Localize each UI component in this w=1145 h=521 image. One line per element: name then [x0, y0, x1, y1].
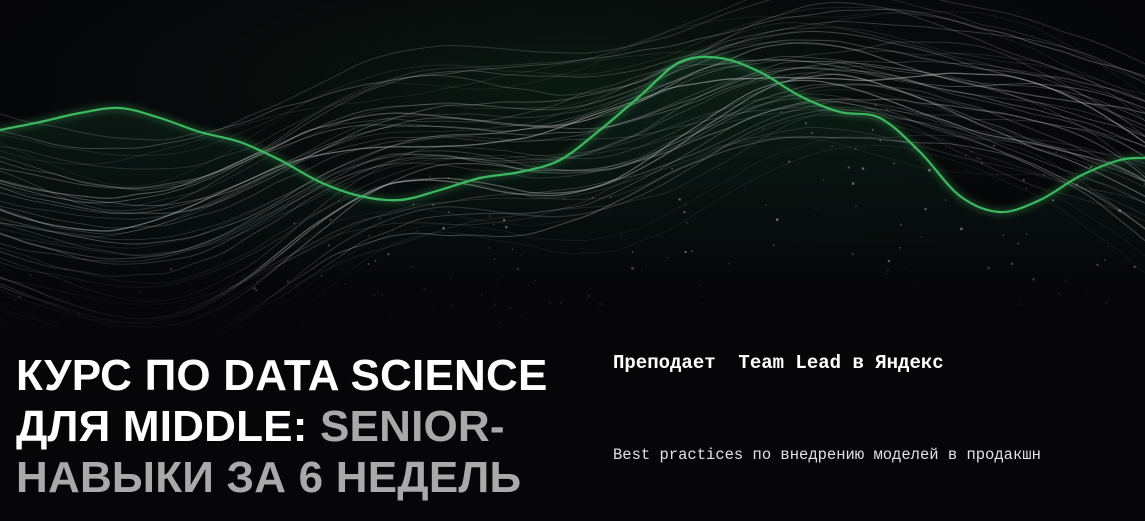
- particle-dot: [960, 228, 962, 230]
- particle-dot: [432, 204, 434, 206]
- particle-dot: [852, 253, 854, 255]
- particle-dot: [560, 302, 562, 304]
- particle-dot: [1051, 278, 1052, 279]
- particle-dot: [503, 219, 505, 221]
- particle-dot: [257, 281, 258, 282]
- particle-dot: [993, 145, 995, 147]
- particle-dot: [823, 179, 824, 180]
- particle-dot: [302, 322, 304, 324]
- particle-dot: [521, 254, 522, 255]
- particle-dot: [685, 251, 687, 253]
- particle-dot: [762, 128, 763, 129]
- particle-dot: [997, 174, 999, 176]
- particle-dot: [765, 205, 766, 206]
- particle-dot: [1056, 151, 1058, 153]
- particle-dot: [297, 285, 298, 286]
- particle-dot: [493, 224, 494, 225]
- particle-dot: [1089, 331, 1091, 333]
- particle-dot: [481, 295, 482, 296]
- particle-dot: [416, 230, 418, 232]
- particle-dot: [424, 289, 426, 291]
- particle-dot: [429, 176, 431, 178]
- particle-dot: [79, 312, 81, 314]
- particle-dot: [789, 161, 791, 163]
- particle-dot: [945, 147, 946, 148]
- particle-dot: [293, 309, 294, 310]
- particle-dot: [377, 334, 378, 335]
- particle-dot: [338, 200, 340, 202]
- particle-dot: [631, 267, 633, 269]
- particle-dot: [872, 129, 874, 131]
- wave-visualization: [0, 0, 1145, 340]
- particle-dot: [549, 302, 551, 304]
- particle-dot: [900, 224, 902, 226]
- headline-line-2-tail: SENIOR-: [320, 402, 505, 451]
- particle-dot: [1087, 295, 1088, 296]
- particle-dot: [1026, 234, 1027, 235]
- particle-dot: [880, 140, 882, 142]
- particle-dot: [199, 309, 201, 311]
- teacher-block: Преподает Team Lead в Яндекс Best practi…: [613, 350, 1133, 521]
- particle-dot: [510, 307, 512, 309]
- teacher-heading: Преподает Team Lead в Яндекс: [613, 350, 1133, 376]
- particle-dot: [243, 277, 244, 278]
- particle-dot: [660, 318, 662, 320]
- particle-dot: [885, 273, 887, 275]
- particle-dot: [1043, 174, 1045, 176]
- particle-dot: [780, 111, 782, 113]
- particle-dot: [887, 269, 889, 271]
- particle-dot: [515, 323, 517, 325]
- hero-banner: КУРС ПО DATA SCIENCE ДЛЯ MIDDLE: SENIOR-…: [0, 0, 1145, 521]
- particle-dot: [679, 198, 681, 200]
- particle-dot: [850, 258, 851, 259]
- particle-dot: [855, 205, 857, 207]
- particle-dot: [563, 198, 565, 200]
- particle-dot: [921, 236, 923, 238]
- particle-dot: [1108, 246, 1109, 247]
- particle-dot: [494, 304, 496, 306]
- particle-dot: [852, 182, 855, 185]
- particle-dot: [413, 204, 415, 206]
- particle-dot: [321, 275, 323, 277]
- particle-dot: [74, 296, 75, 297]
- particle-dot: [965, 169, 967, 171]
- particle-dot: [1033, 278, 1035, 280]
- particle-dot: [532, 319, 534, 321]
- particle-dot: [434, 310, 435, 311]
- particle-dot: [989, 300, 991, 302]
- particle-dot: [499, 321, 501, 323]
- particle-dot: [378, 218, 380, 220]
- headline-line-1: КУРС ПО DATA SCIENCE: [16, 350, 556, 401]
- particle-dot: [1023, 179, 1025, 181]
- particle-dot: [776, 219, 778, 221]
- particle-dot: [855, 148, 857, 150]
- particle-dot: [945, 199, 947, 201]
- particle-dot: [620, 235, 621, 236]
- particle-dot: [1119, 209, 1122, 212]
- particle-dot: [15, 299, 17, 301]
- particle-dot: [1003, 234, 1005, 236]
- wave-svg: [0, 0, 1145, 340]
- particle-dot: [894, 163, 895, 164]
- particle-dot: [987, 267, 989, 269]
- particle-dot: [1076, 184, 1078, 186]
- particle-dot: [646, 265, 647, 266]
- particle-dot: [1134, 266, 1136, 268]
- particle-dot: [924, 208, 926, 210]
- particle-dot: [450, 277, 452, 279]
- particle-dot: [381, 294, 383, 296]
- particle-dot: [411, 266, 412, 267]
- headline-line-2: ДЛЯ MIDDLE: SENIOR-: [16, 401, 556, 452]
- particle-dot: [979, 158, 981, 160]
- particle-dot: [496, 279, 498, 281]
- particle-dot: [719, 168, 720, 169]
- course-description: Best practices по внедрению моделей в пр…: [613, 390, 1133, 521]
- particle-dot: [1104, 259, 1105, 260]
- particle-dot: [494, 259, 495, 260]
- particle-dot: [1106, 302, 1108, 304]
- particle-dot: [661, 236, 662, 237]
- particle-dot: [287, 280, 289, 282]
- particle-dot: [30, 275, 31, 276]
- particle-dot: [488, 247, 490, 249]
- particle-dot: [448, 211, 450, 213]
- particle-dot: [592, 197, 594, 199]
- particle-dot: [503, 322, 505, 324]
- particle-dot: [875, 104, 877, 106]
- particle-dot: [976, 157, 978, 159]
- particle-dot: [667, 257, 668, 258]
- particle-dot: [170, 268, 172, 270]
- particle-dot: [535, 280, 536, 281]
- particle-dot: [910, 270, 911, 271]
- particle-dot: [685, 204, 686, 205]
- particle-dot: [700, 285, 701, 286]
- particle-dot: [1059, 293, 1061, 295]
- particle-dot: [451, 328, 452, 329]
- particle-dot: [1064, 280, 1066, 282]
- particle-dot: [581, 248, 582, 249]
- particle-dot: [253, 287, 255, 289]
- particle-dot: [691, 251, 692, 252]
- particle-dot: [928, 169, 931, 172]
- particle-dot: [448, 177, 449, 178]
- particle-dot: [900, 247, 901, 248]
- particle-dot: [375, 260, 376, 261]
- particle-dot: [632, 251, 633, 252]
- particle-dot: [491, 322, 492, 323]
- particle-dot: [374, 294, 375, 295]
- page-title: КУРС ПО DATA SCIENCE ДЛЯ MIDDLE: SENIOR-…: [16, 350, 556, 503]
- particle-dot: [256, 289, 258, 291]
- particle-dot: [862, 167, 864, 169]
- particle-dot: [66, 269, 67, 270]
- particle-dot: [442, 227, 444, 229]
- particle-dot: [368, 235, 370, 237]
- headline-line-3: НАВЫКИ ЗА 6 НЕДЕЛЬ: [16, 452, 556, 503]
- particle-dot: [330, 219, 332, 221]
- particle-dot: [888, 260, 890, 262]
- particle-dot: [521, 316, 523, 318]
- particle-dot: [570, 176, 572, 178]
- particle-dot: [683, 211, 685, 213]
- particle-dot: [1052, 200, 1054, 202]
- headline-line-2-head: ДЛЯ MIDDLE:: [16, 402, 320, 451]
- particle-dot: [1011, 263, 1013, 265]
- particle-dot: [527, 328, 529, 330]
- particle-dot: [18, 296, 20, 298]
- particle-dot: [1026, 188, 1028, 190]
- particle-dot: [832, 146, 834, 148]
- particle-dot: [392, 231, 393, 232]
- particle-dot: [981, 162, 983, 164]
- particle-dot: [88, 334, 90, 336]
- particle-dot: [671, 168, 672, 169]
- particle-dot: [728, 263, 729, 264]
- particle-dot: [451, 304, 453, 306]
- particle-dot: [387, 253, 389, 255]
- particle-dot: [816, 208, 817, 209]
- particle-dot: [1093, 287, 1094, 288]
- particle-dot: [389, 318, 391, 320]
- particle-dot: [886, 109, 887, 110]
- particle-dot: [773, 244, 775, 246]
- particle-dot: [489, 215, 491, 217]
- particle-dot: [700, 302, 702, 304]
- particle-dot: [965, 154, 966, 155]
- particle-dot: [512, 319, 514, 321]
- particle-dot: [325, 294, 326, 295]
- particle-dot: [368, 263, 370, 265]
- particle-dot: [970, 151, 972, 153]
- particle-dot: [294, 222, 296, 224]
- particle-dot: [686, 222, 688, 224]
- particle-dot: [328, 245, 330, 247]
- particle-dot: [345, 284, 346, 285]
- particle-dot: [505, 226, 507, 228]
- particle-dot: [67, 298, 68, 299]
- particle-dot: [741, 300, 742, 301]
- particle-dot: [1106, 337, 1108, 339]
- particle-dot: [1097, 264, 1099, 266]
- particle-dot: [848, 166, 850, 168]
- description-line-1: Best practices по внедрению моделей в пр…: [613, 442, 1133, 468]
- particle-dot: [805, 122, 807, 124]
- particle-dot: [812, 132, 814, 134]
- particle-dot: [1018, 243, 1020, 245]
- particle-dot: [512, 249, 513, 250]
- particle-dot: [914, 281, 916, 283]
- particle-dot: [139, 291, 141, 293]
- particle-dot: [588, 295, 590, 297]
- particle-dot: [643, 196, 644, 197]
- particle-dot: [1019, 302, 1021, 304]
- particle-dot: [458, 300, 460, 302]
- particle-dot: [610, 197, 611, 198]
- particle-dot: [599, 302, 601, 304]
- particle-dot: [517, 268, 519, 270]
